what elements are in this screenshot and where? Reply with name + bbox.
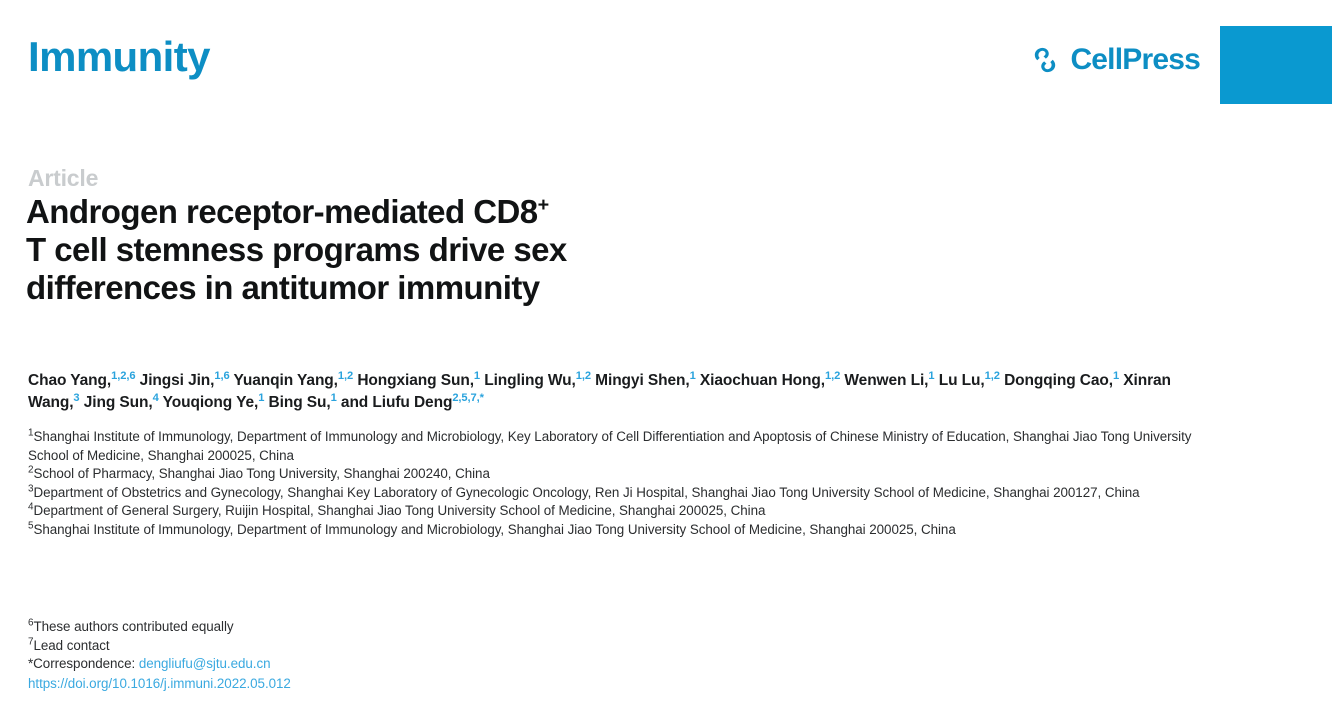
title-line-2: T cell stemness programs drive sex	[26, 231, 567, 268]
affiliation-item: 4Department of General Surgery, Ruijin H…	[28, 502, 1203, 521]
correspondence-label: Correspondence:	[33, 656, 139, 671]
author-entry: Jingsi Jin,1,6	[140, 372, 230, 389]
author-name: Yuanqin Yang,	[234, 372, 338, 389]
author-entry: Wenwen Li,1	[844, 372, 934, 389]
article-type-label: Article	[28, 165, 98, 192]
publisher-logo[interactable]: CellPress	[1029, 44, 1200, 76]
footnote-text: These authors contributed equally	[33, 619, 233, 634]
affiliation-item: 5Shanghai Institute of Immunology, Depar…	[28, 521, 1203, 540]
cellpress-link-icon	[1029, 44, 1061, 76]
masthead: Immunity CellPress	[0, 0, 1332, 112]
author-affiliation-marker: 1	[1113, 370, 1119, 382]
author-affiliation-marker: 1,6	[214, 370, 229, 382]
footnote-text: Lead contact	[33, 638, 109, 653]
title-line-3: differences in antitumor immunity	[26, 269, 540, 306]
author-entry: Lingling Wu,1,2	[484, 372, 591, 389]
author-entry: and Liufu Deng2,5,7,*	[341, 394, 484, 411]
affiliation-text: Department of Obstetrics and Gynecology,…	[33, 485, 1139, 500]
doi-link[interactable]: https://doi.org/10.1016/j.immuni.2022.05…	[28, 674, 928, 693]
affiliation-text: School of Pharmacy, Shanghai Jiao Tong U…	[33, 466, 489, 481]
author-name: Mingyi Shen,	[595, 372, 689, 389]
author-affiliation-marker: 2,5,7,*	[452, 392, 484, 404]
author-name: Hongxiang Sun,	[357, 372, 474, 389]
author-affiliation-marker: 1,2	[338, 370, 353, 382]
author-affiliation-marker: 4	[153, 392, 159, 404]
author-name: Youqiong Ye,	[163, 394, 259, 411]
affiliation-text: Shanghai Institute of Immunology, Depart…	[33, 522, 955, 537]
author-name: Dongqing Cao,	[1004, 372, 1113, 389]
author-affiliation-marker: 1	[331, 392, 337, 404]
author-affiliation-marker: 1,2	[985, 370, 1000, 382]
affiliation-item: 2School of Pharmacy, Shanghai Jiao Tong …	[28, 465, 1203, 484]
correspondence-line: *Correspondence: dengliufu@sjtu.edu.cn	[28, 655, 928, 674]
publisher-name: CellPress	[1070, 45, 1200, 75]
page-title: Androgen receptor-mediated CD8+ T cell s…	[26, 193, 826, 307]
author-name: Jingsi Jin,	[140, 372, 215, 389]
author-name: Bing Su,	[269, 394, 331, 411]
author-affiliation-marker: 1	[690, 370, 696, 382]
footnote-item: 7Lead contact	[28, 637, 928, 656]
author-entry: Chao Yang,1,2,6	[28, 372, 135, 389]
author-entry: Youqiong Ye,1	[163, 394, 265, 411]
author-name: Lu Lu,	[939, 372, 985, 389]
footnotes-block: 6These authors contributed equally7Lead …	[28, 618, 928, 693]
author-affiliation-marker: 1	[474, 370, 480, 382]
author-name: and Liufu Deng	[341, 394, 452, 411]
author-affiliation-marker: 1	[258, 392, 264, 404]
author-list: Chao Yang,1,2,6 Jingsi Jin,1,6 Yuanqin Y…	[28, 370, 1218, 414]
affiliation-text: Department of General Surgery, Ruijin Ho…	[33, 503, 765, 518]
author-entry: Lu Lu,1,2	[939, 372, 1000, 389]
author-affiliation-marker: 1,2	[825, 370, 840, 382]
author-affiliation-marker: 1	[928, 370, 934, 382]
author-entry: Jing Sun,4	[84, 394, 159, 411]
affiliation-item: 3Department of Obstetrics and Gynecology…	[28, 484, 1203, 503]
author-entry: Dongqing Cao,1	[1004, 372, 1119, 389]
correspondence-email-link[interactable]: dengliufu@sjtu.edu.cn	[139, 656, 271, 671]
title-line-1: Androgen receptor-mediated CD8	[26, 193, 538, 230]
footnote-item: 6These authors contributed equally	[28, 618, 928, 637]
journal-logo[interactable]: Immunity	[28, 36, 210, 78]
author-affiliation-marker: 3	[73, 392, 79, 404]
affiliation-text: Shanghai Institute of Immunology, Depart…	[28, 429, 1191, 463]
author-name: Jing Sun,	[84, 394, 153, 411]
author-name: Chao Yang,	[28, 372, 111, 389]
author-entry: Hongxiang Sun,1	[357, 372, 480, 389]
author-entry: Bing Su,1	[269, 394, 337, 411]
author-entry: Yuanqin Yang,1,2	[234, 372, 354, 389]
author-name: Xiaochuan Hong,	[700, 372, 825, 389]
author-affiliation-marker: 1,2	[576, 370, 591, 382]
author-entry: Xiaochuan Hong,1,2	[700, 372, 840, 389]
author-affiliation-marker: 1,2,6	[111, 370, 135, 382]
article-title-page: Immunity CellPress Article Androgen rece…	[0, 0, 1332, 722]
affiliation-list: 1Shanghai Institute of Immunology, Depar…	[28, 428, 1203, 540]
title-superscript: +	[538, 194, 549, 216]
author-entry: Mingyi Shen,1	[595, 372, 696, 389]
author-name: Lingling Wu,	[484, 372, 576, 389]
affiliation-item: 1Shanghai Institute of Immunology, Depar…	[28, 428, 1203, 465]
brand-color-swatch	[1220, 26, 1332, 104]
author-name: Wenwen Li,	[844, 372, 928, 389]
